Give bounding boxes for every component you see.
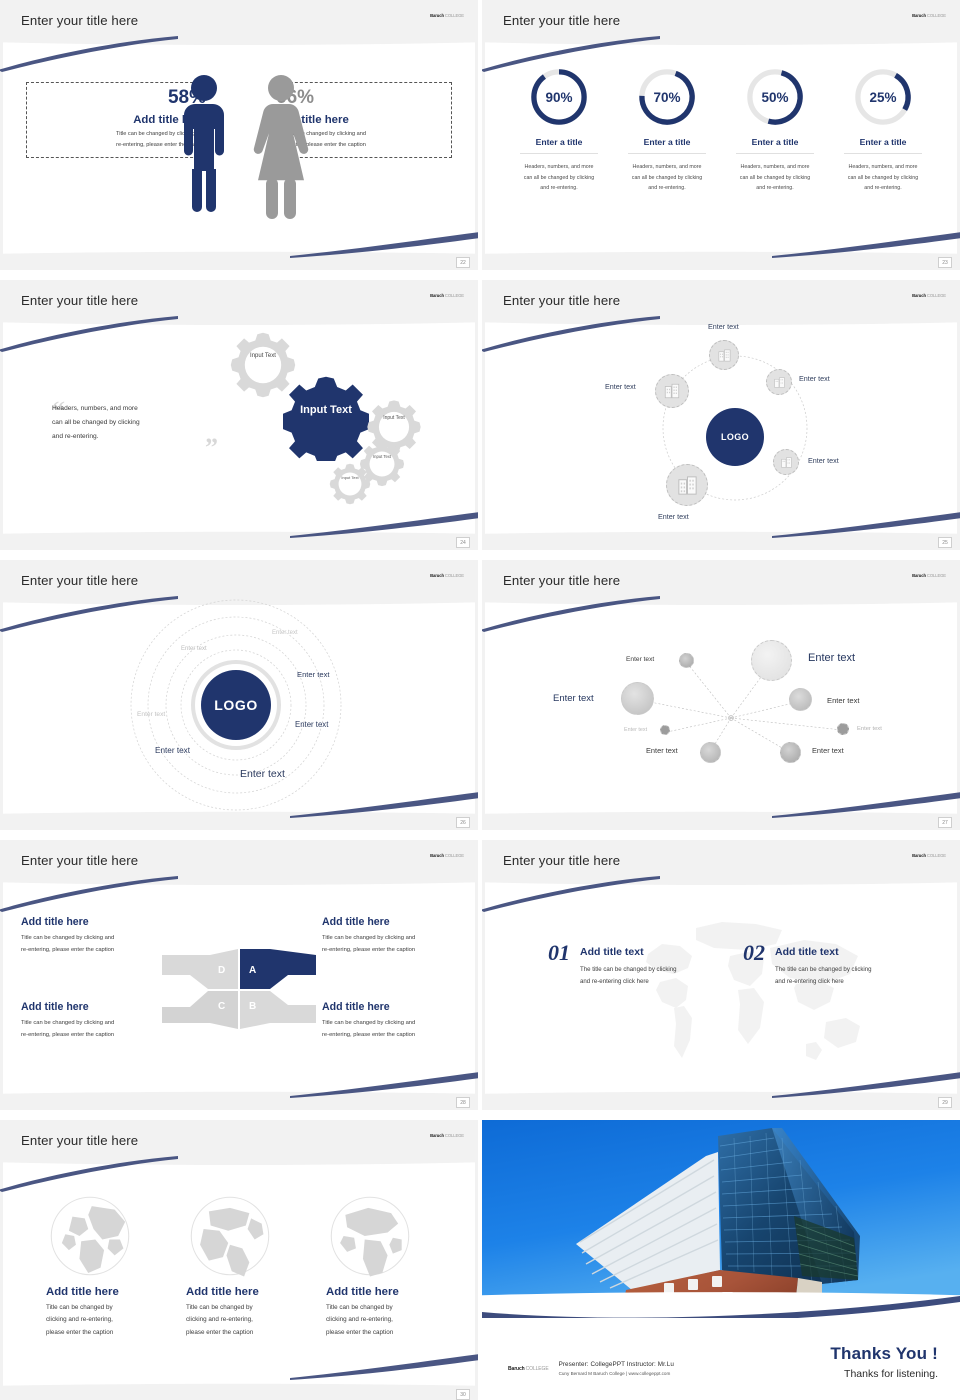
network-node-large-2[interactable] bbox=[621, 682, 654, 715]
brand-sub: COLLEGE bbox=[927, 853, 946, 858]
network-label-7: Enter text bbox=[624, 727, 647, 733]
page-number: 30 bbox=[456, 1389, 470, 1400]
network-label-1: Enter text bbox=[808, 652, 855, 664]
page-title: Enter your title here bbox=[503, 573, 620, 588]
ring-label-3: Enter text bbox=[297, 670, 330, 679]
item-desc-line2: and re-entering click here bbox=[580, 976, 677, 988]
page-title: Enter your title here bbox=[21, 293, 138, 308]
donut-desc: Headers, numbers, and more can all be ch… bbox=[844, 162, 922, 194]
brand-logo: Baruch COLLEGE bbox=[912, 573, 946, 578]
brand-sub: COLLEGE bbox=[927, 573, 946, 578]
item-title: Add title text bbox=[775, 946, 872, 958]
slide-thanks[interactable]: Thanks You ! Thanks for listening. Baruc… bbox=[482, 1120, 960, 1400]
gear-label-main: Input Text bbox=[296, 404, 356, 418]
globe-title: Add title here bbox=[46, 1286, 186, 1298]
quote-line-2: can all be changed by clicking bbox=[52, 416, 187, 430]
quadrant-desc-line2: re-entering, please enter the caption bbox=[322, 1030, 457, 1042]
page-title: Enter your title here bbox=[503, 293, 620, 308]
item-title: Add title text bbox=[580, 946, 677, 958]
globe-desc-line2: clicking and re-entering, bbox=[326, 1314, 466, 1326]
node-building-right-lower[interactable] bbox=[773, 449, 799, 475]
brand-mark: Baruch bbox=[508, 1366, 525, 1372]
network-label-8: Enter text bbox=[857, 726, 882, 732]
quadrant-text-bottom-left: Add title here Title can be changed by c… bbox=[21, 1001, 156, 1041]
globe-icon bbox=[186, 1192, 274, 1280]
globe-icon bbox=[326, 1192, 414, 1280]
item-desc-line2: and re-entering click here bbox=[775, 976, 872, 988]
photo-curve-accent bbox=[482, 1294, 960, 1318]
network-label-5: Enter text bbox=[626, 656, 654, 663]
numbered-item-01: 01 Add title text The title can be chang… bbox=[548, 940, 677, 989]
brand-mark: Baruch bbox=[912, 573, 926, 578]
footer-brand-logo: Baruch COLLEGE bbox=[508, 1366, 549, 1372]
building-icon bbox=[676, 474, 699, 497]
item-number: 02 bbox=[743, 940, 765, 966]
brand-logo: Baruch COLLEGE bbox=[430, 1133, 464, 1138]
hub-logo[interactable]: LOGO bbox=[201, 670, 271, 740]
network-label-4: Enter text bbox=[646, 746, 678, 755]
slide-22[interactable]: Enter your title here Baruch COLLEGE 58%… bbox=[0, 0, 478, 270]
brand-mark: Baruch bbox=[430, 13, 444, 18]
network-label-3: Enter text bbox=[827, 696, 860, 705]
svg-text:B: B bbox=[249, 1001, 256, 1012]
globe-item-3[interactable]: Add title here Title can be changed by c… bbox=[326, 1192, 466, 1339]
quadrant-text-top-right: Add title here Title can be changed by c… bbox=[322, 916, 457, 956]
slide-28[interactable]: Enter your title here Baruch COLLEGE Add… bbox=[0, 840, 478, 1110]
donut-desc: Headers, numbers, and more can all be ch… bbox=[736, 162, 814, 194]
network-node-small-3[interactable] bbox=[660, 725, 670, 735]
brand-mark: Baruch bbox=[912, 13, 926, 18]
globe-desc-line2: clicking and re-entering, bbox=[46, 1314, 186, 1326]
brand-mark: Baruch bbox=[430, 293, 444, 298]
footer-block: Baruch COLLEGE Presenter: CollegePPT Ins… bbox=[508, 1361, 674, 1376]
globe-title: Add title here bbox=[326, 1286, 466, 1298]
brand-sub: COLLEGE bbox=[445, 13, 464, 18]
gear-label-right: Input Text bbox=[376, 415, 412, 422]
node-building-bottom[interactable] bbox=[666, 464, 708, 506]
building-icon bbox=[717, 348, 732, 363]
donut-title: Enter a title bbox=[736, 137, 814, 154]
page-number: 23 bbox=[938, 257, 952, 268]
page-number: 29 bbox=[938, 1097, 952, 1108]
network-node-small-1[interactable] bbox=[679, 653, 694, 668]
page-number: 27 bbox=[938, 817, 952, 828]
slide-23[interactable]: Enter your title here Baruch COLLEGE 90%… bbox=[482, 0, 960, 270]
page-number: 26 bbox=[456, 817, 470, 828]
node-building-left[interactable] bbox=[655, 374, 689, 408]
node-label-right-lower: Enter text bbox=[808, 456, 839, 465]
globe-item-2[interactable]: Add title here Title can be changed by c… bbox=[186, 1192, 326, 1339]
item-desc-line1: The title can be changed by clicking bbox=[580, 964, 677, 976]
gear-icon-small-2[interactable] bbox=[328, 462, 372, 506]
page-title: Enter your title here bbox=[503, 853, 620, 868]
brand-logo: Baruch COLLEGE bbox=[430, 13, 464, 18]
network-node-medium-1[interactable] bbox=[789, 688, 812, 711]
quadrant-text-top-left: Add title here Title can be changed by c… bbox=[21, 916, 156, 956]
node-label-bottom: Enter text bbox=[658, 512, 689, 521]
globe-desc-line3: please enter the caption bbox=[326, 1327, 466, 1339]
quadrant-title: Add title here bbox=[322, 916, 457, 928]
quadrant-desc-line2: re-entering, please enter the caption bbox=[21, 1030, 156, 1042]
quadrant-desc-line2: re-entering, please enter the caption bbox=[21, 945, 156, 957]
presenter-line: Presenter: CollegePPT Instructor: Mr.Lu bbox=[559, 1361, 674, 1368]
node-building-top[interactable] bbox=[709, 340, 739, 370]
node-building-right-upper[interactable] bbox=[766, 369, 792, 395]
network-node-medium-2[interactable] bbox=[700, 742, 721, 763]
globe-desc-line1: Title can be changed by bbox=[326, 1302, 466, 1314]
slide-26[interactable]: Enter your title here Baruch COLLEGE LOG… bbox=[0, 560, 478, 830]
donut-value: 70% bbox=[636, 66, 698, 128]
globe-desc-line3: please enter the caption bbox=[46, 1327, 186, 1339]
slide-30[interactable]: Enter your title here Baruch COLLEGE Add… bbox=[0, 1120, 478, 1400]
network-node-small-4[interactable] bbox=[837, 723, 849, 735]
quadrant-text-bottom-right: Add title here Title can be changed by c… bbox=[322, 1001, 457, 1041]
building-icon bbox=[780, 456, 793, 469]
quadrant-desc-line1: Title can be changed by clicking and bbox=[21, 1018, 156, 1030]
slide-deck: Enter your title here Baruch COLLEGE 58%… bbox=[0, 0, 960, 1400]
donut-title: Enter a title bbox=[520, 137, 598, 154]
building-icon bbox=[663, 382, 681, 400]
brand-mark: Baruch bbox=[430, 1133, 444, 1138]
gear-label-small-2: Input Text bbox=[335, 475, 365, 481]
brand-sub: COLLEGE bbox=[445, 573, 464, 578]
donut-desc: Headers, numbers, and more can all be ch… bbox=[520, 162, 598, 194]
page-title: Enter your title here bbox=[21, 853, 138, 868]
brand-sub: COLLEGE bbox=[445, 853, 464, 858]
slide-29[interactable]: Enter your title here Baruch COLLEGE bbox=[482, 840, 960, 1110]
bowtie-diagram[interactable]: D A C B bbox=[160, 945, 318, 1030]
brand-logo: Baruch COLLEGE bbox=[430, 573, 464, 578]
brand-mark: Baruch bbox=[912, 853, 926, 858]
brand-sub: COLLEGE bbox=[927, 13, 946, 18]
page-number: 22 bbox=[456, 257, 470, 268]
page-number: 28 bbox=[456, 1097, 470, 1108]
donut-title: Enter a title bbox=[628, 137, 706, 154]
thanks-subtitle: Thanks for listening. bbox=[830, 1368, 938, 1380]
ring-label-5: Enter text bbox=[295, 720, 328, 729]
item-number: 01 bbox=[548, 940, 570, 966]
brand-logo: Baruch COLLEGE bbox=[430, 293, 464, 298]
page-number: 25 bbox=[938, 537, 952, 548]
globe-desc-line3: please enter the caption bbox=[186, 1327, 326, 1339]
ring-label-6: Enter text bbox=[155, 746, 190, 755]
network-node-small-2[interactable] bbox=[780, 742, 801, 763]
quadrant-desc-line1: Title can be changed by clicking and bbox=[322, 933, 457, 945]
donut-value: 90% bbox=[528, 66, 590, 128]
brand-sub: COLLEGE bbox=[927, 293, 946, 298]
quote-line-3: and re-entering. bbox=[52, 430, 187, 444]
quote-line-1: Headers, numbers, and more bbox=[52, 402, 187, 416]
quadrant-title: Add title here bbox=[21, 1001, 156, 1013]
quote-block: Headers, numbers, and more can all be ch… bbox=[52, 402, 187, 445]
brand-mark: Baruch bbox=[430, 853, 444, 858]
thanks-block: Thanks You ! Thanks for listening. bbox=[830, 1344, 938, 1380]
globe-title: Add title here bbox=[186, 1286, 326, 1298]
brand-logo: Baruch COLLEGE bbox=[430, 853, 464, 858]
globe-desc-line2: clicking and re-entering, bbox=[186, 1314, 326, 1326]
svg-text:A: A bbox=[249, 965, 256, 976]
quadrant-desc-line1: Title can be changed by clicking and bbox=[322, 1018, 457, 1030]
brand-sub: COLLEGE bbox=[445, 293, 464, 298]
donut-row: 90% Enter a title Headers, numbers, and … bbox=[482, 66, 960, 194]
donut-desc: Headers, numbers, and more can all be ch… bbox=[628, 162, 706, 194]
node-label-right-upper: Enter text bbox=[799, 374, 830, 383]
donut-title: Enter a title bbox=[844, 137, 922, 154]
donut-item[interactable]: 25% Enter a title Headers, numbers, and … bbox=[844, 66, 922, 194]
brand-logo: Baruch COLLEGE bbox=[912, 853, 946, 858]
gear-icon-main[interactable] bbox=[283, 375, 369, 461]
globe-desc-line1: Title can be changed by bbox=[46, 1302, 186, 1314]
donut-item[interactable]: 90% Enter a title Headers, numbers, and … bbox=[520, 66, 598, 194]
brand-sub: COLLEGE bbox=[445, 1133, 464, 1138]
quote-close-icon: ” bbox=[205, 435, 218, 461]
globe-icon bbox=[46, 1192, 134, 1280]
glass-office-building-photo bbox=[482, 1120, 960, 1318]
item-desc-line1: The title can be changed by clicking bbox=[775, 964, 872, 976]
quadrant-desc-line1: Title can be changed by clicking and bbox=[21, 933, 156, 945]
gear-label-top: Input Text bbox=[240, 352, 286, 361]
page-number: 24 bbox=[456, 537, 470, 548]
donut-item[interactable]: 50% Enter a title Headers, numbers, and … bbox=[736, 66, 814, 194]
page-title: Enter your title here bbox=[21, 13, 138, 28]
quadrant-title: Add title here bbox=[322, 1001, 457, 1013]
node-label-top: Enter text bbox=[708, 322, 739, 331]
brand-mark: Baruch bbox=[430, 573, 444, 578]
world-map-background-icon bbox=[630, 912, 880, 1072]
globe-desc-line1: Title can be changed by bbox=[186, 1302, 326, 1314]
male-figure-icon bbox=[176, 74, 232, 219]
college-line: Cuny Bernard M Baruch College | www.coll… bbox=[559, 1371, 674, 1376]
page-title: Enter your title here bbox=[21, 1133, 138, 1148]
thanks-title: Thanks You ! bbox=[830, 1344, 938, 1364]
ring-label-2: Enter text bbox=[181, 646, 207, 652]
slide-24[interactable]: Enter your title here Baruch COLLEGE “ ”… bbox=[0, 280, 478, 550]
network-node-large-1[interactable] bbox=[751, 640, 792, 681]
svg-text:D: D bbox=[218, 965, 225, 976]
quadrant-desc-line2: re-entering, please enter the caption bbox=[322, 945, 457, 957]
svg-text:C: C bbox=[218, 1001, 225, 1012]
brand-mark: Baruch bbox=[912, 293, 926, 298]
brand-logo: Baruch COLLEGE bbox=[912, 13, 946, 18]
donut-item[interactable]: 70% Enter a title Headers, numbers, and … bbox=[628, 66, 706, 194]
page-title: Enter your title here bbox=[503, 13, 620, 28]
quadrant-title: Add title here bbox=[21, 916, 156, 928]
hub-logo[interactable]: LOGO bbox=[706, 408, 764, 466]
building-icon bbox=[773, 376, 786, 389]
cover-photo bbox=[482, 1120, 960, 1318]
network-label-2: Enter text bbox=[553, 693, 594, 704]
ring-label-7: Enter text bbox=[240, 768, 285, 780]
donut-value: 25% bbox=[852, 66, 914, 128]
gear-label-small-1: Input Text bbox=[366, 454, 398, 460]
numbered-item-02: 02 Add title text The title can be chang… bbox=[743, 940, 872, 989]
globe-item-1[interactable]: Add title here Title can be changed by c… bbox=[46, 1192, 186, 1339]
slide-27[interactable]: Enter your title here Baruch COLLEGE bbox=[482, 560, 960, 830]
page-title: Enter your title here bbox=[21, 573, 138, 588]
node-label-left: Enter text bbox=[605, 382, 636, 391]
brand-logo: Baruch COLLEGE bbox=[912, 293, 946, 298]
brand-sub: COLLEGE bbox=[526, 1366, 549, 1372]
network-label-6: Enter text bbox=[812, 746, 844, 755]
donut-value: 50% bbox=[744, 66, 806, 128]
ring-label-1: Enter text bbox=[272, 630, 298, 636]
slide-25[interactable]: Enter your title here Baruch COLLEGE LOG… bbox=[482, 280, 960, 550]
ring-label-4: Enter text bbox=[137, 711, 165, 718]
female-figure-icon bbox=[252, 74, 310, 219]
